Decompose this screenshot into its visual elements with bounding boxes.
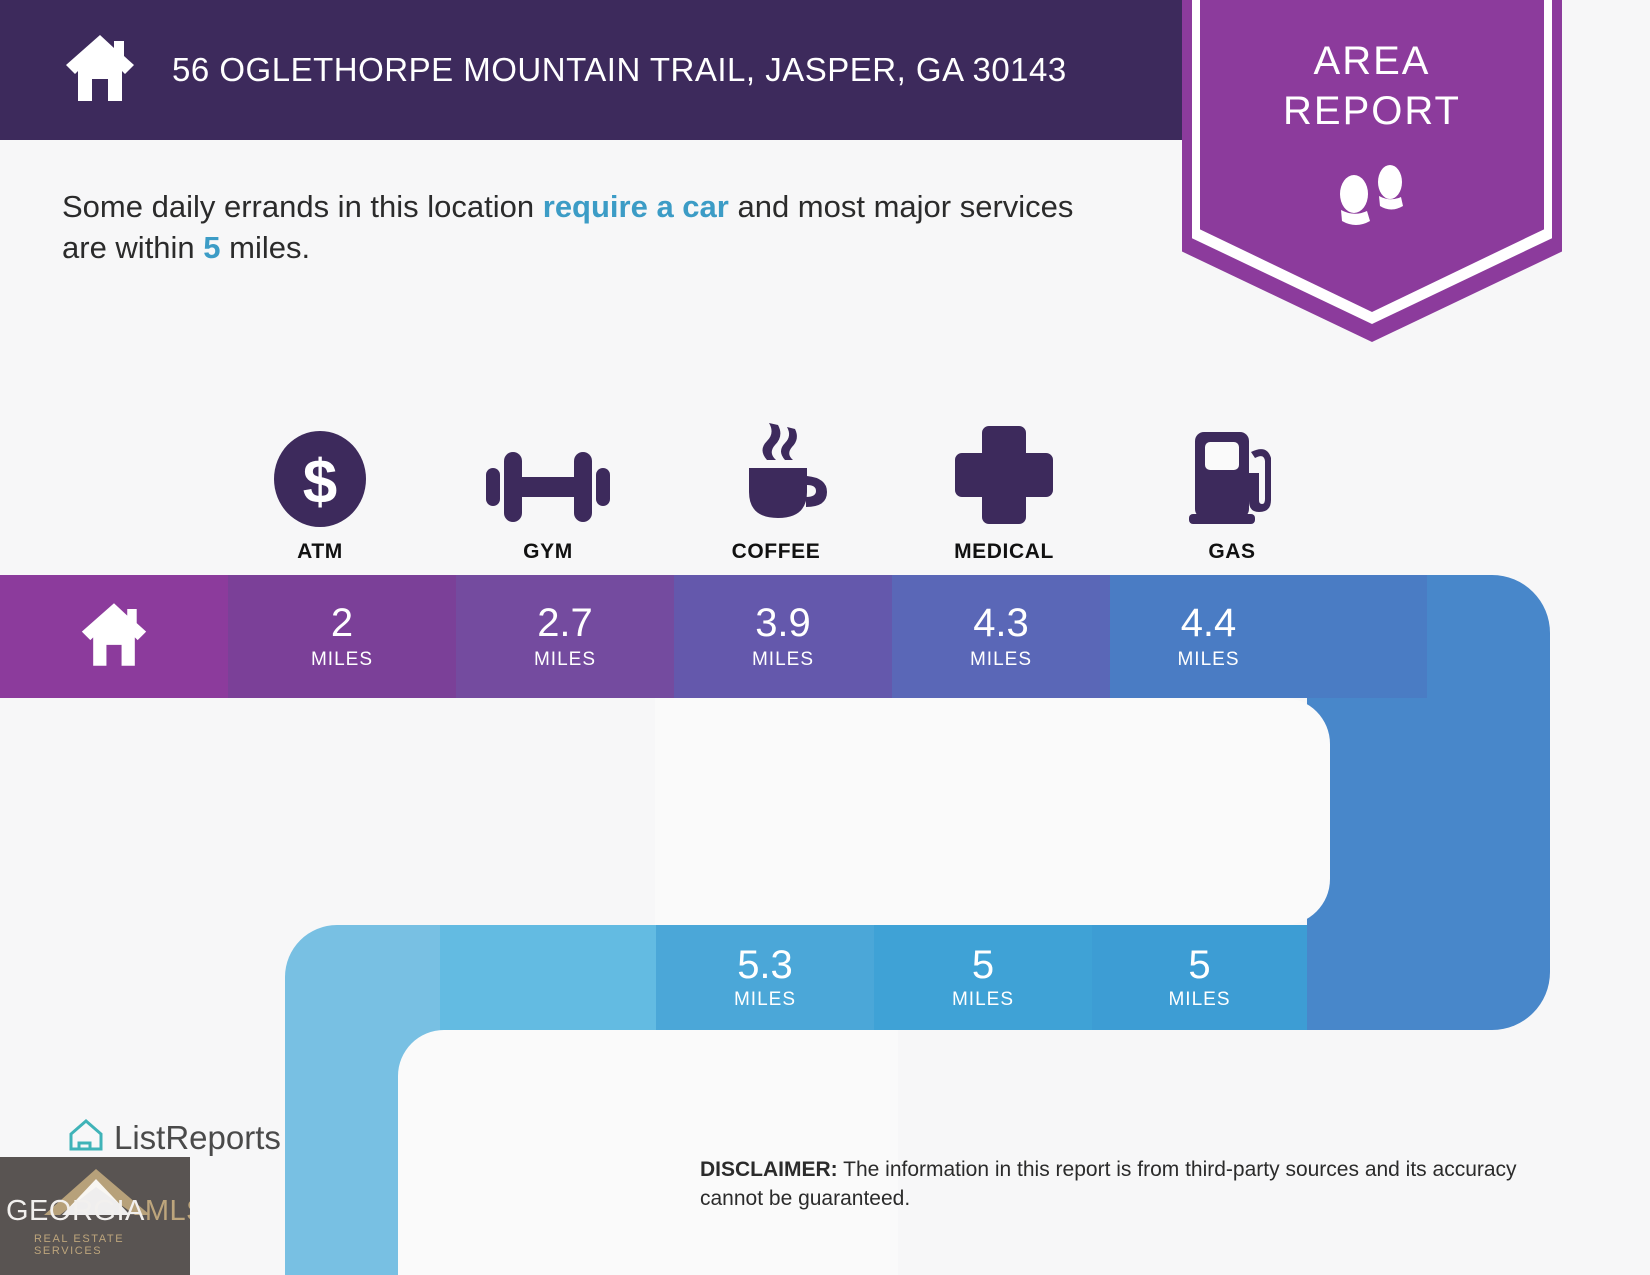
amenity-gym: GYM <box>434 418 662 564</box>
bar-segment-pharmacy: 5 MILES <box>874 925 1092 1030</box>
ribbon-bottom-tail <box>285 1030 398 1275</box>
bar-value: 5 <box>874 943 1092 987</box>
amenity-label: ATM <box>206 540 434 564</box>
badge-line-area: AREA <box>1200 0 1544 86</box>
bar-unit: MILES <box>656 989 874 1011</box>
intro-part1: Some daily errands in this location <box>62 189 543 224</box>
listreports-logo: ListReports <box>66 1115 281 1160</box>
mls-name-georgia: GEORGIA <box>6 1195 145 1227</box>
medical-cross-icon <box>890 418 1118 528</box>
bar-value: 2.7 <box>456 601 674 645</box>
page-title: 56 OGLETHORPE MOUNTAIN TRAIL, JASPER, GA… <box>172 51 1067 89</box>
header-bar: 56 OGLETHORPE MOUNTAIN TRAIL, JASPER, GA… <box>0 0 1199 140</box>
disclaimer: DISCLAIMER: The information in this repo… <box>700 1155 1530 1213</box>
bar-unit: MILES <box>228 649 456 671</box>
intro-part3: miles. <box>221 230 311 265</box>
bar-value: 4.4 <box>1110 601 1307 645</box>
bar-segment-cleaners: 5.3 MILES <box>656 925 874 1030</box>
intro-paragraph: Some daily errands in this location requ… <box>62 186 1082 268</box>
ribbon-left-cutout <box>398 1030 898 1275</box>
footprints-icon <box>1200 162 1544 239</box>
bar-value: 4.3 <box>892 601 1110 645</box>
amenity-label: GYM <box>434 540 662 564</box>
amenity-icon-row-1: $ ATM GYM COFFEE <box>206 418 1346 564</box>
ribbon-right-cutout <box>655 698 1330 925</box>
bar-value: 5.3 <box>656 943 874 987</box>
georgia-mls-watermark: GEORGIAMLS REAL ESTATE SERVICES <box>0 1157 190 1275</box>
amenity-label: COFFEE <box>662 540 890 564</box>
bar-value: 2 <box>228 601 456 645</box>
amenity-label: MEDICAL <box>890 540 1118 564</box>
bar-segment-atm: 2 MILES <box>228 575 456 698</box>
ribbon-home-segment <box>0 575 228 698</box>
intro-highlight-miles: 5 <box>203 230 220 265</box>
mls-wordmark: GEORGIAMLS <box>6 1195 190 1228</box>
bar-segment-coffee: 3.9 MILES <box>674 575 892 698</box>
house-icon <box>62 31 138 110</box>
bar-value: 3.9 <box>674 601 892 645</box>
bar-segment-groceries: 5 MILES <box>1092 925 1307 1030</box>
amenity-atm: $ ATM <box>206 418 434 564</box>
ribbon-right-elbow-shade <box>1307 575 1427 698</box>
listreports-house-icon <box>66 1115 106 1160</box>
listreports-wordmark: ListReports <box>114 1119 281 1157</box>
amenity-coffee: COFFEE <box>662 418 890 564</box>
mls-tagline: REAL ESTATE SERVICES <box>34 1233 190 1257</box>
bar-unit: MILES <box>892 649 1110 671</box>
dumbbell-icon <box>434 418 662 528</box>
house-icon <box>78 599 150 674</box>
bar-segment-gas: 4.4 MILES <box>1110 575 1307 698</box>
bar-segment-gym: 2.7 MILES <box>456 575 674 698</box>
badge-line-report: REPORT <box>1200 86 1544 136</box>
mls-name-mls: MLS <box>145 1195 190 1227</box>
svg-text:$: $ <box>303 448 337 517</box>
bar-unit: MILES <box>1092 989 1307 1011</box>
amenity-gas: GAS <box>1118 418 1346 564</box>
dollar-coin-icon: $ <box>206 418 434 528</box>
coffee-cup-icon <box>662 418 890 528</box>
disclaimer-label: DISCLAIMER: <box>700 1158 838 1181</box>
bar-unit: MILES <box>1110 649 1307 671</box>
bar-unit: MILES <box>674 649 892 671</box>
bar-segment-medical: 4.3 MILES <box>892 575 1110 698</box>
amenity-label: GAS <box>1118 540 1346 564</box>
intro-highlight-car: require a car <box>543 189 729 224</box>
bar-unit: MILES <box>874 989 1092 1011</box>
amenity-medical: MEDICAL <box>890 418 1118 564</box>
bar-segment-gap-1 <box>440 925 656 1030</box>
bar-unit: MILES <box>456 649 674 671</box>
area-report-badge: AREA REPORT <box>1182 0 1562 342</box>
gas-pump-icon <box>1118 418 1346 528</box>
bar-value: 5 <box>1092 943 1307 987</box>
